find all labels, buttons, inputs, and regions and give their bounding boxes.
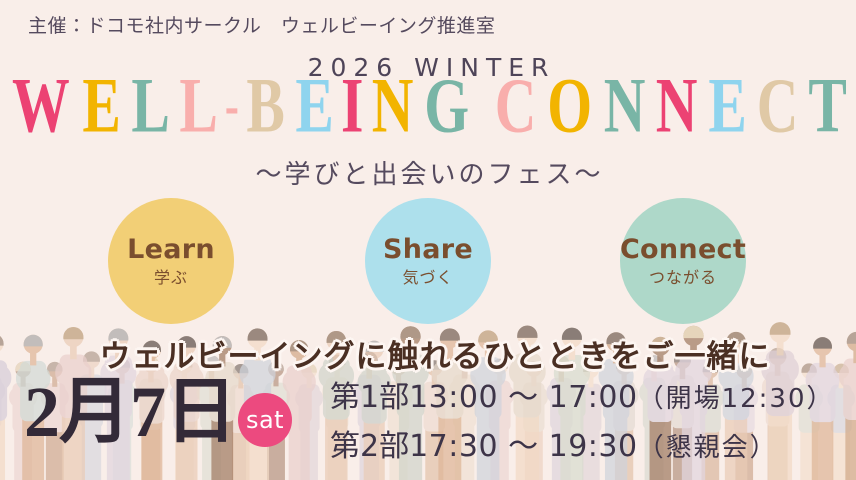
title-letter-o: O xyxy=(547,68,591,143)
concept-jp-label: つながる xyxy=(649,270,717,286)
concept-jp-label: 学ぶ xyxy=(154,270,188,286)
title-letter-l: L xyxy=(131,68,169,143)
schedule-time: 17:30 〜 19:30 xyxy=(409,429,637,464)
title-letter-c: C xyxy=(495,68,536,143)
schedule-part: 第1部 xyxy=(330,380,409,415)
title-letter-l: L xyxy=(179,68,217,143)
title-letter-n: N xyxy=(656,68,697,143)
event-date: 2月7日 sat xyxy=(24,376,292,448)
schedule-row: 第2部17:30 〜 19:30（懇親会） xyxy=(330,432,835,462)
concept-en-label: Share xyxy=(383,236,473,263)
title-letter-c: C xyxy=(757,68,798,143)
title-letter-b: B xyxy=(247,68,285,143)
subtitle: 〜学びと出会いのフェス〜 xyxy=(0,154,856,191)
concept-circle-share: Share 気づく xyxy=(365,198,491,324)
main-title: WELL-BEINGCONNECT xyxy=(0,79,856,143)
title-letter-e: E xyxy=(708,68,746,143)
schedule-note: （懇親会） xyxy=(638,433,778,463)
title-letter-t: T xyxy=(809,68,847,143)
title-letter-dash: - xyxy=(225,77,238,134)
tagline: ウェルビーイングに触れるひとときをご一緒に xyxy=(0,331,856,376)
organizer-line: 主催：ドコモ社内サークル ウェルビーイング推進室 xyxy=(28,11,495,38)
title-letter-n: N xyxy=(372,68,413,143)
title-letter-n: N xyxy=(604,68,645,143)
title-letter-e: E xyxy=(82,68,120,143)
weekday-badge: sat xyxy=(238,393,292,447)
concept-circle-connect: Connect つながる xyxy=(620,198,746,324)
schedule-time: 13:00 〜 17:00 xyxy=(409,380,637,415)
schedule-part: 第2部 xyxy=(330,429,409,464)
schedule-list: 第1部13:00 〜 17:00（開場12:30） 第2部17:30 〜 19:… xyxy=(330,383,835,462)
concept-circle-learn: Learn 学ぶ xyxy=(108,198,234,324)
title-letters: WELL-BEINGCONNECT xyxy=(4,73,852,143)
title-letter-g: G xyxy=(424,68,468,143)
schedule-note: （開場12:30） xyxy=(638,384,835,414)
concept-en-label: Learn xyxy=(127,236,215,263)
concept-jp-label: 気づく xyxy=(402,270,453,286)
event-poster: 主催：ドコモ社内サークル ウェルビーイング推進室 2026 WINTER WEL… xyxy=(0,0,856,480)
title-letter-e: E xyxy=(295,68,333,143)
concept-en-label: Connect xyxy=(620,236,746,263)
schedule-row: 第1部13:00 〜 17:00（開場12:30） xyxy=(330,383,835,413)
title-letter-i: I xyxy=(341,68,363,143)
title-letter-w: W xyxy=(12,68,69,143)
concept-circles: Learn 学ぶ Share 気づく Connect つながる xyxy=(0,198,856,324)
date-text: 2月7日 xyxy=(24,376,236,448)
